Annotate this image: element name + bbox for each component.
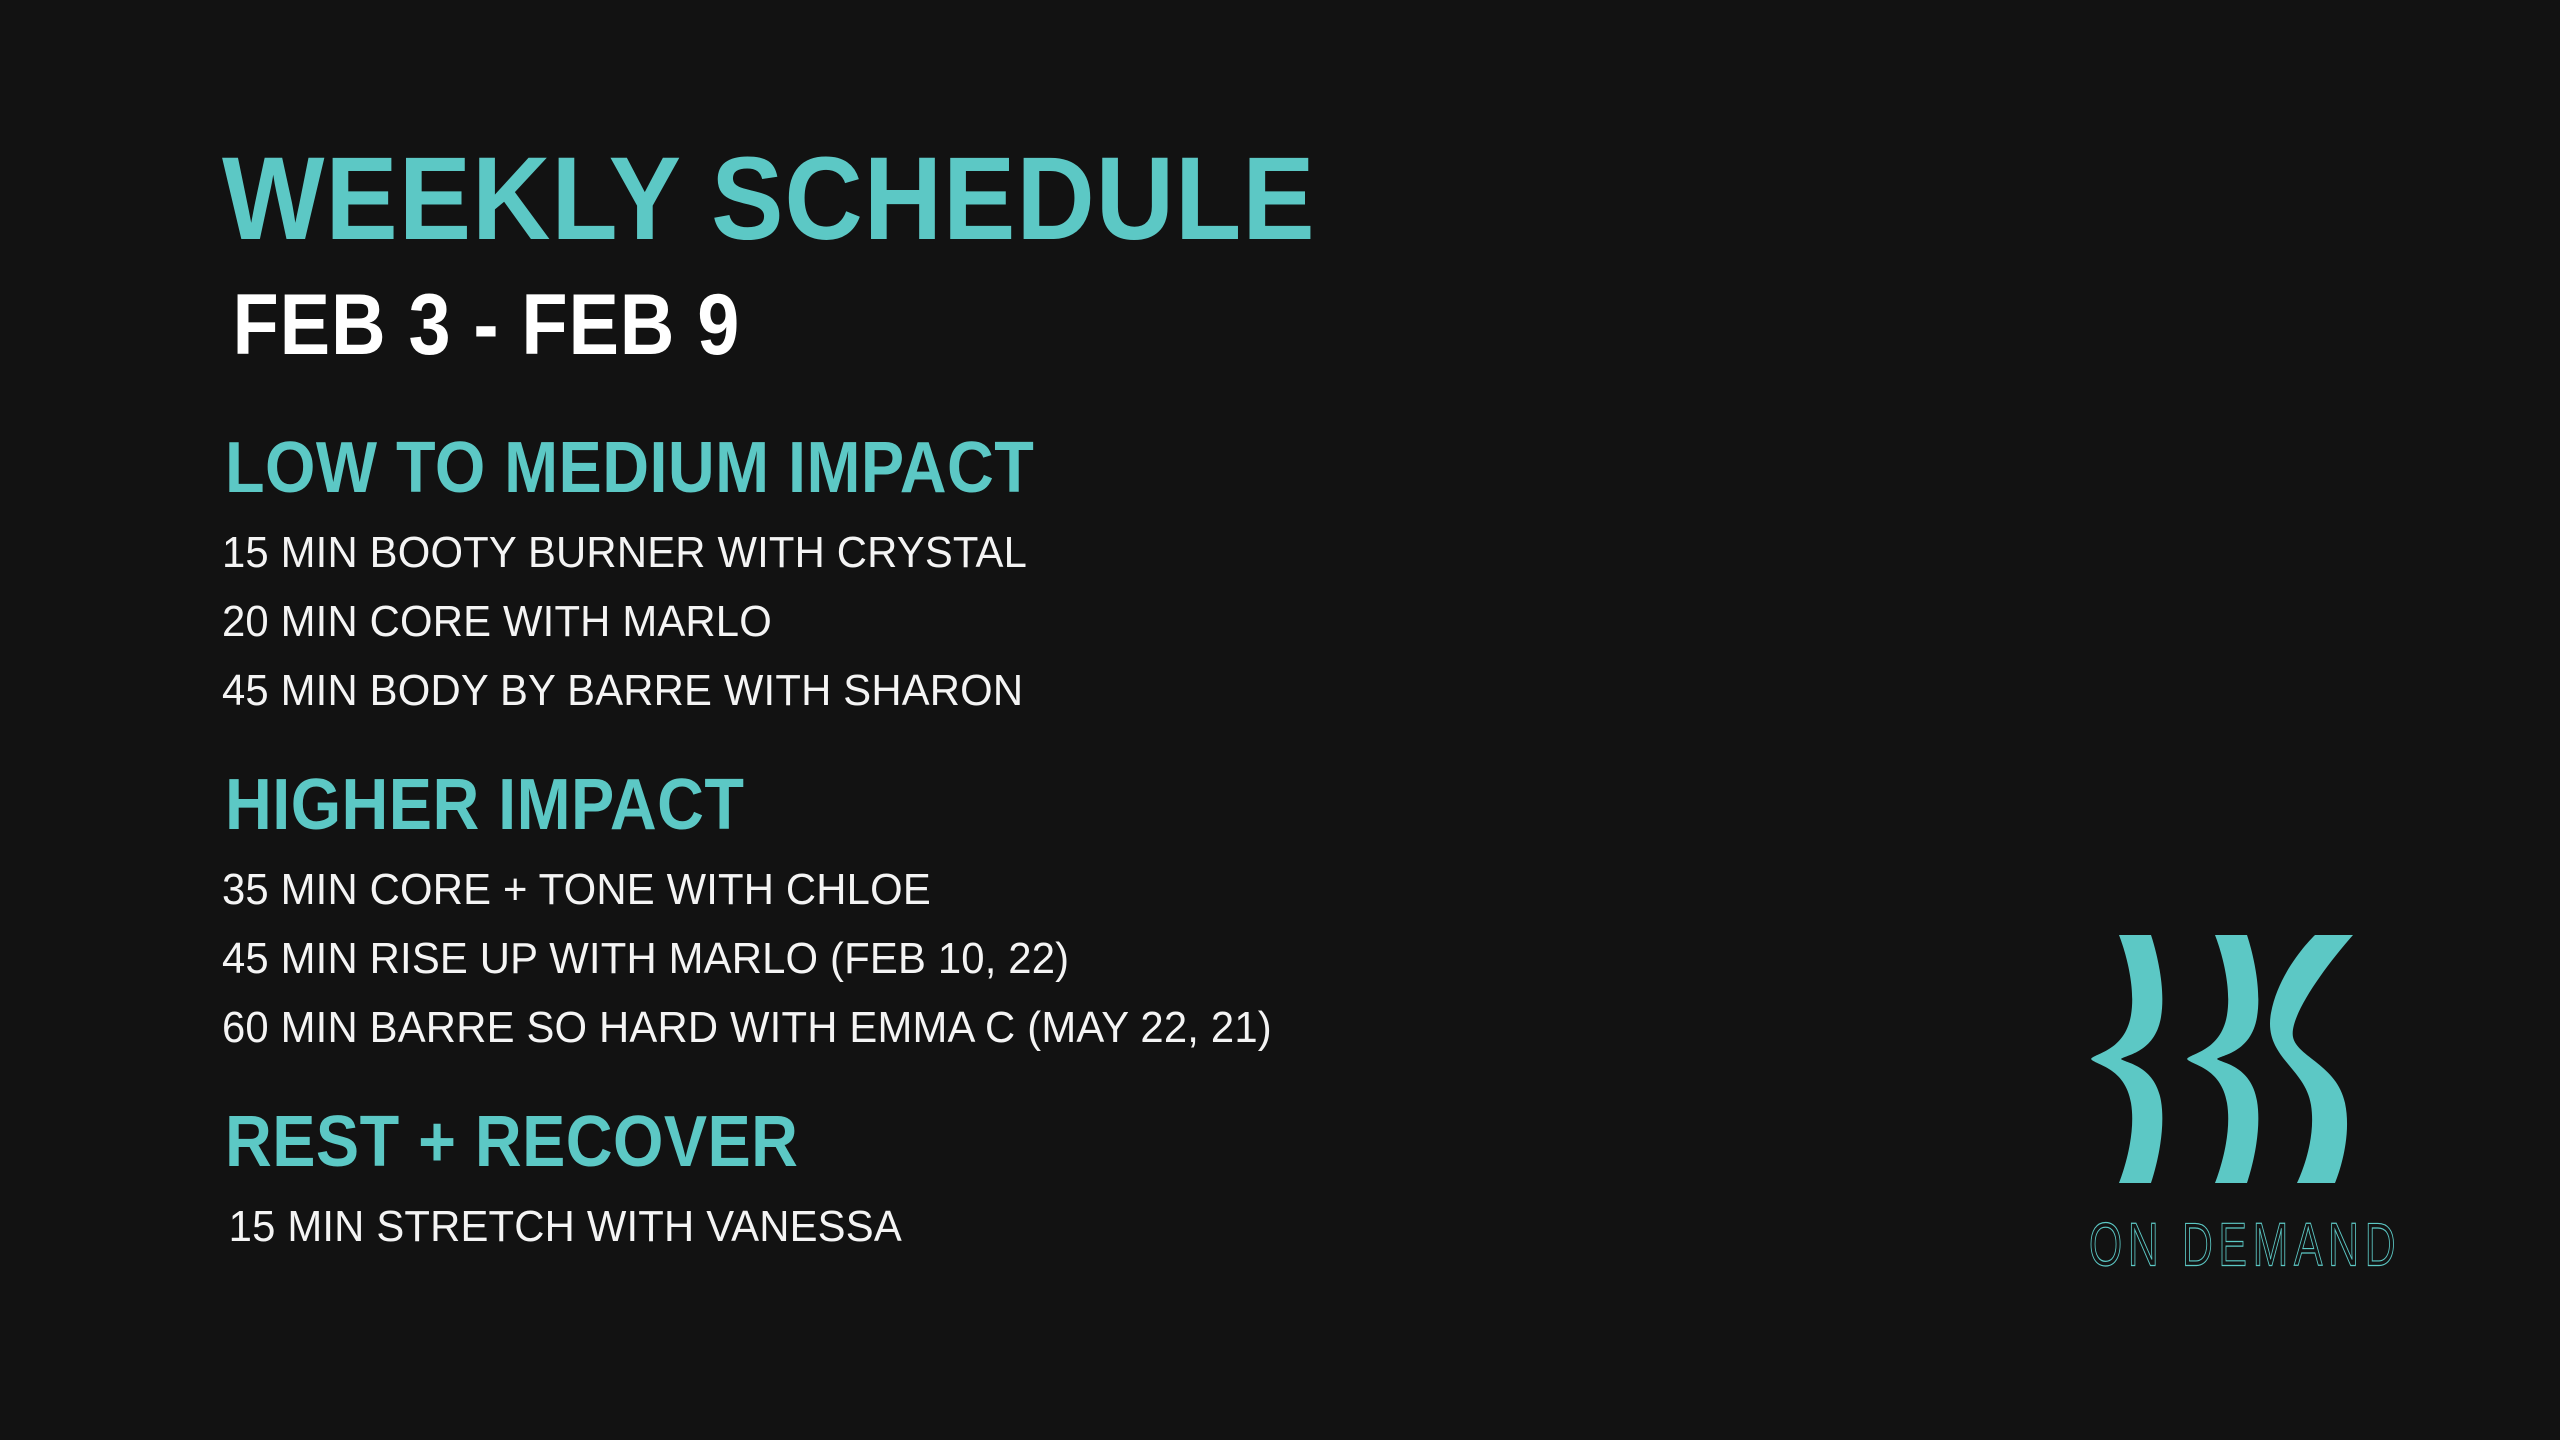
section-heading: LOW TO MEDIUM IMPACT — [225, 432, 1662, 504]
brand-logo: ON DEMAND — [2085, 935, 2385, 1285]
list-item: 15 MIN BOOTY BURNER WITH CRYSTAL — [222, 518, 1742, 587]
class-list: 15 MIN STRETCH WITH VANESSA — [222, 1192, 1822, 1261]
date-range: FEB 3 - FEB 9 — [222, 282, 1268, 368]
page-title: WEEKLY SCHEDULE — [222, 140, 1316, 258]
poster-header: WEEKLY SCHEDULE FEB 3 - FEB 9 — [222, 140, 1411, 368]
section-heading: REST + RECOVER — [225, 1106, 1662, 1178]
schedule-poster: WEEKLY SCHEDULE FEB 3 - FEB 9 LOW TO MED… — [0, 0, 2560, 1440]
class-list: 15 MIN BOOTY BURNER WITH CRYSTAL 20 MIN … — [222, 518, 1822, 725]
section-higher-impact: HIGHER IMPACT 35 MIN CORE + TONE WITH CH… — [222, 769, 1822, 1062]
schedule-sections: LOW TO MEDIUM IMPACT 15 MIN BOOTY BURNER… — [222, 432, 1822, 1261]
list-item: 35 MIN CORE + TONE WITH CHLOE — [222, 855, 1742, 924]
logo-wordmark: ON DEMAND — [2089, 1215, 2332, 1276]
list-item: 15 MIN STRETCH WITH VANESSA — [222, 1192, 1742, 1261]
list-item: 60 MIN BARRE SO HARD WITH EMMA C (MAY 22… — [222, 993, 1742, 1062]
list-item: 45 MIN RISE UP WITH MARLO (FEB 10, 22) — [222, 924, 1742, 993]
three-wave-mark-icon — [2091, 935, 2353, 1183]
section-heading: HIGHER IMPACT — [225, 769, 1662, 841]
list-item: 20 MIN CORE WITH MARLO — [222, 587, 1742, 656]
section-rest-and-recover: REST + RECOVER 15 MIN STRETCH WITH VANES… — [222, 1106, 1822, 1261]
class-list: 35 MIN CORE + TONE WITH CHLOE 45 MIN RIS… — [222, 855, 1822, 1062]
list-item: 45 MIN BODY BY BARRE WITH SHARON — [222, 656, 1742, 725]
section-low-to-medium-impact: LOW TO MEDIUM IMPACT 15 MIN BOOTY BURNER… — [222, 432, 1822, 725]
